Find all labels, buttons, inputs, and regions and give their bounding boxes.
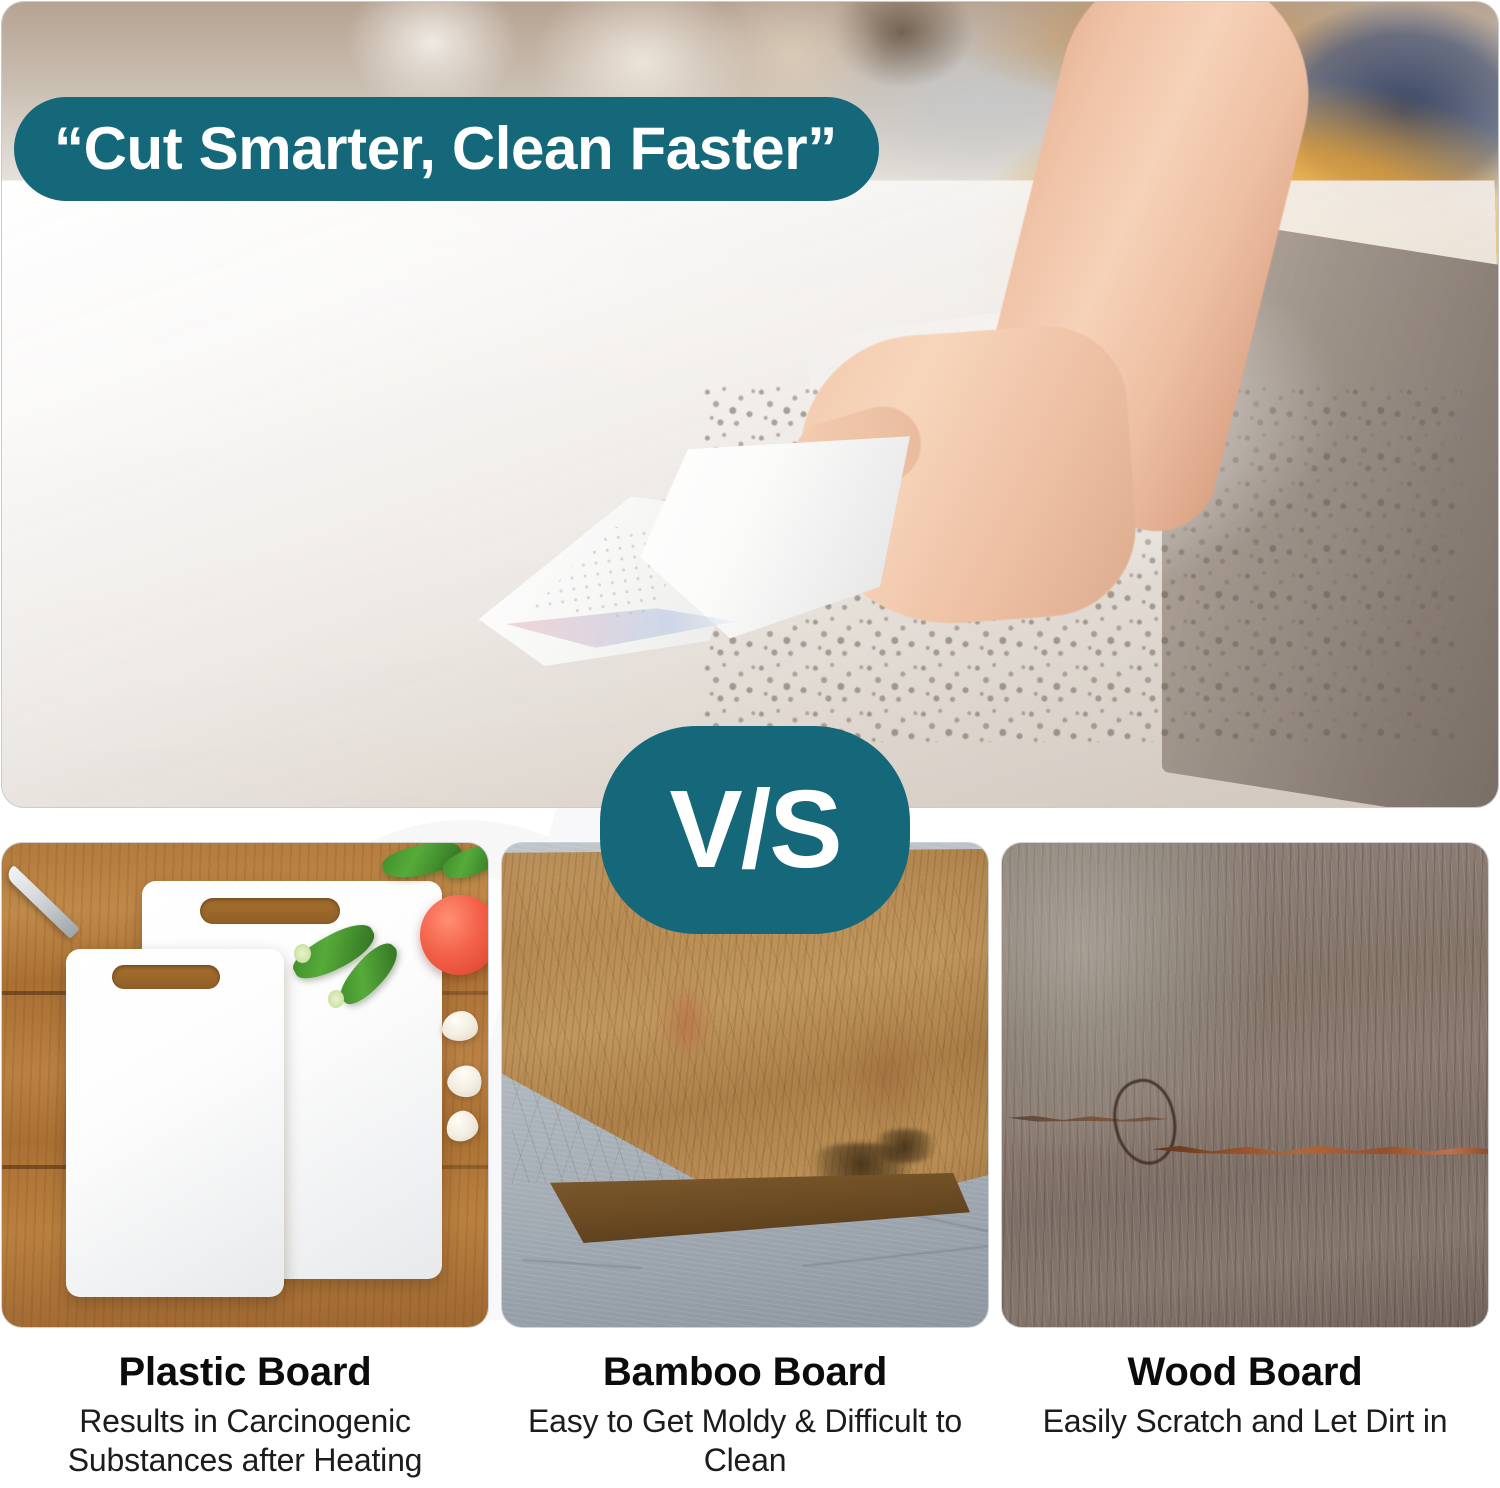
wood-board-subtitle: Easily Scratch and Let Dirt in: [1002, 1402, 1488, 1441]
bamboo-board-caption: Bamboo Board Easy to Get Moldy & Difficu…: [502, 1327, 988, 1480]
bamboo-board-subtitle: Easy to Get Moldy & Difficult to Clean: [502, 1402, 988, 1480]
headline-banner: “Cut Smarter, Clean Faster”: [14, 97, 879, 201]
plastic-board-large-handle: [200, 898, 340, 924]
plastic-board-caption: Plastic Board Results in Carcinogenic Su…: [2, 1327, 488, 1480]
versus-label: V/S: [669, 775, 840, 885]
cucumber-cut-face: [328, 990, 344, 1008]
plastic-board-title: Plastic Board: [2, 1351, 488, 1394]
comparison-card-bamboo-board: Bamboo Board Easy to Get Moldy & Difficu…: [502, 843, 988, 1488]
plastic-board-image: [2, 843, 488, 1327]
plastic-board-subtitle: Results in Carcinogenic Substances after…: [2, 1402, 488, 1480]
wood-board-image: [1002, 843, 1488, 1327]
bamboo-board-title: Bamboo Board: [502, 1351, 988, 1394]
wood-board-caption: Wood Board Easily Scratch and Let Dirt i…: [1002, 1327, 1488, 1441]
plastic-board-small-handle: [112, 965, 220, 989]
headline-text: “Cut Smarter, Clean Faster”: [54, 119, 837, 179]
bamboo-mold-spot: [870, 1129, 940, 1163]
infographic-canvas: “Cut Smarter, Clean Faster” V/S: [0, 0, 1500, 1488]
plastic-board-small: [66, 949, 284, 1297]
comparison-card-wood-board: Wood Board Easily Scratch and Let Dirt i…: [1002, 843, 1488, 1488]
wood-board-title: Wood Board: [1002, 1351, 1488, 1394]
comparison-row: Plastic Board Results in Carcinogenic Su…: [0, 843, 1500, 1488]
bamboo-stain: [662, 983, 710, 1061]
comparison-card-plastic-board: Plastic Board Results in Carcinogenic Su…: [2, 843, 488, 1488]
bamboo-stain: [840, 1021, 936, 1131]
tomato: [420, 895, 488, 975]
garlic-clove: [442, 1011, 478, 1041]
paper-towel: [472, 426, 942, 676]
versus-badge: V/S: [600, 726, 910, 934]
cucumber-cut-face: [294, 944, 311, 963]
